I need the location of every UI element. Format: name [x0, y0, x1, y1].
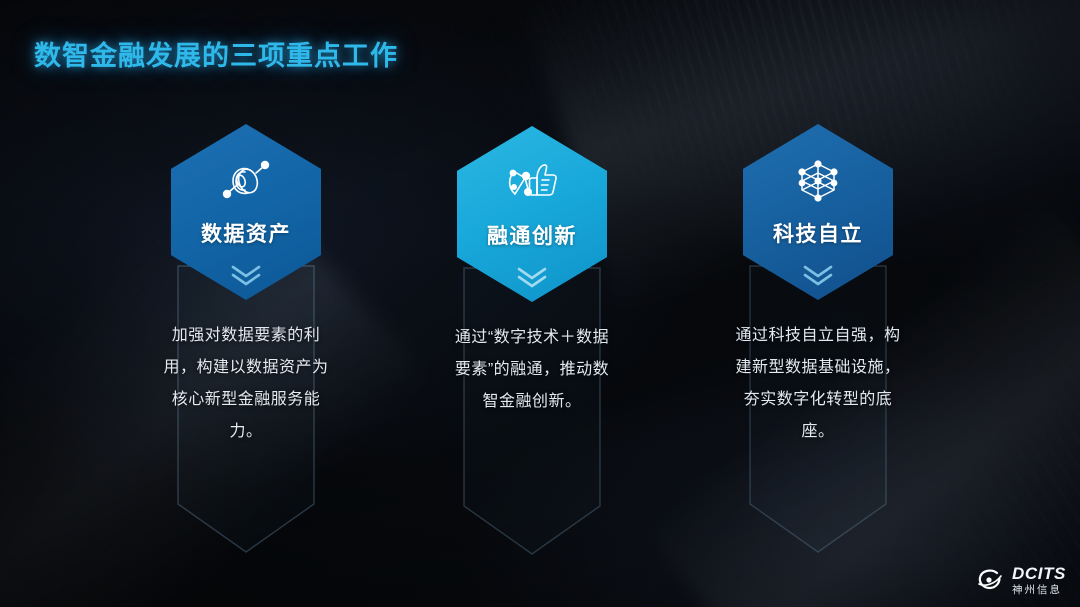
pillar-body-text: 通过科技自立自强，构建新型数据基础设施，夯实数字化转型的底座。 [734, 320, 902, 448]
company-logo: DCITS 神州信息 [975, 565, 1066, 596]
pillars-group: 数据资产 加强对数据要素的利用，构建以数据资产为核心新型金融服务能力。 [0, 0, 1080, 607]
logo-wordmark: DCITS 神州信息 [1012, 565, 1066, 596]
logo-name-en: DCITS [1012, 565, 1066, 582]
thumbs-up-network-icon [501, 156, 563, 210]
logo-name-cn: 神州信息 [1012, 585, 1066, 596]
double-chevron-down-icon [801, 262, 835, 286]
pillar-label: 科技自立 [743, 218, 893, 248]
hexagon-badge[interactable]: 科技自立 [743, 124, 893, 300]
hexagon-badge[interactable]: 融通创新 [457, 126, 607, 302]
double-chevron-down-icon [515, 264, 549, 288]
dcits-swirl-logo-icon [975, 565, 1005, 595]
pillar-label: 数据资产 [171, 218, 321, 248]
data-asset-spiral-icon [215, 154, 277, 208]
layered-network-stack-icon [787, 154, 849, 208]
double-chevron-down-icon [229, 262, 263, 286]
pillar-body-text: 加强对数据要素的利用，构建以数据资产为核心新型金融服务能力。 [162, 320, 330, 448]
hexagon-badge[interactable]: 数据资产 [171, 124, 321, 300]
slide-canvas: 数智金融发展的三项重点工作 [0, 0, 1080, 607]
pillar-label: 融通创新 [457, 220, 607, 250]
pillar-body-text: 通过“数字技术＋数据要素”的融通，推动数智金融创新。 [448, 322, 616, 418]
